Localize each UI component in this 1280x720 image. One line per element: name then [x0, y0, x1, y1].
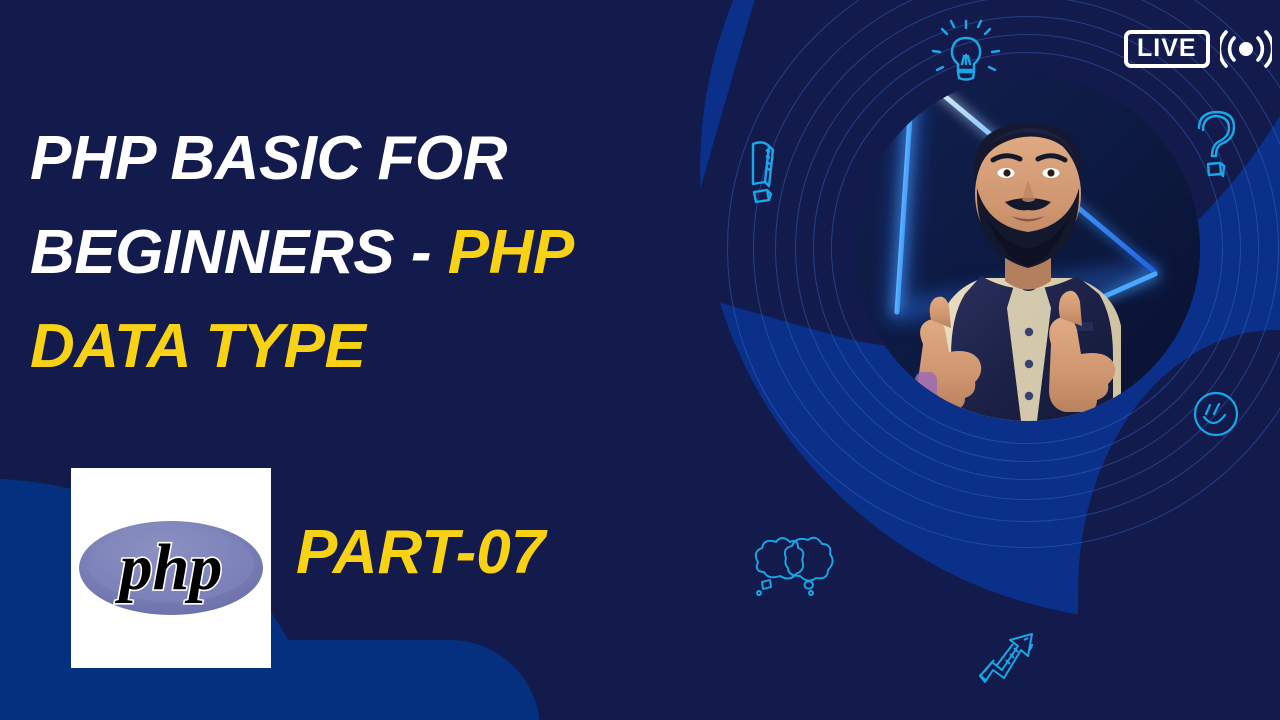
exclamation-icon	[735, 138, 789, 208]
live-label: LIVE	[1124, 30, 1210, 68]
headline-line-1: PHP BASIC FOR	[30, 112, 730, 206]
php-wordmark: php	[115, 531, 223, 604]
question-mark-icon	[1190, 108, 1248, 184]
php-logo-mark: php	[77, 517, 265, 619]
growth-arrow-icon	[966, 620, 1046, 700]
live-badge: LIVE	[1124, 29, 1272, 69]
lightbulb-icon	[930, 18, 1002, 90]
headline: PHP BASIC FOR BEGINNERS - PHP DATA TYPE	[30, 112, 730, 395]
smiley-face-icon	[1192, 390, 1240, 438]
thumbnail-canvas: LIVE PHP BASIC FOR BEGINNERS - PHP DATA …	[0, 0, 1280, 720]
broadcast-waves-icon	[1220, 29, 1272, 69]
headline-line-2-yellow: PHP	[448, 218, 574, 287]
php-logo: php	[71, 468, 271, 668]
part-badge: PART-07	[296, 522, 545, 584]
presenter-avatar	[855, 76, 1200, 421]
headline-line-2-white: BEGINNERS -	[30, 218, 448, 287]
headline-line-3: DATA TYPE	[30, 300, 730, 394]
headline-line-2: BEGINNERS - PHP	[30, 206, 730, 300]
thought-bubbles-icon	[742, 530, 838, 608]
